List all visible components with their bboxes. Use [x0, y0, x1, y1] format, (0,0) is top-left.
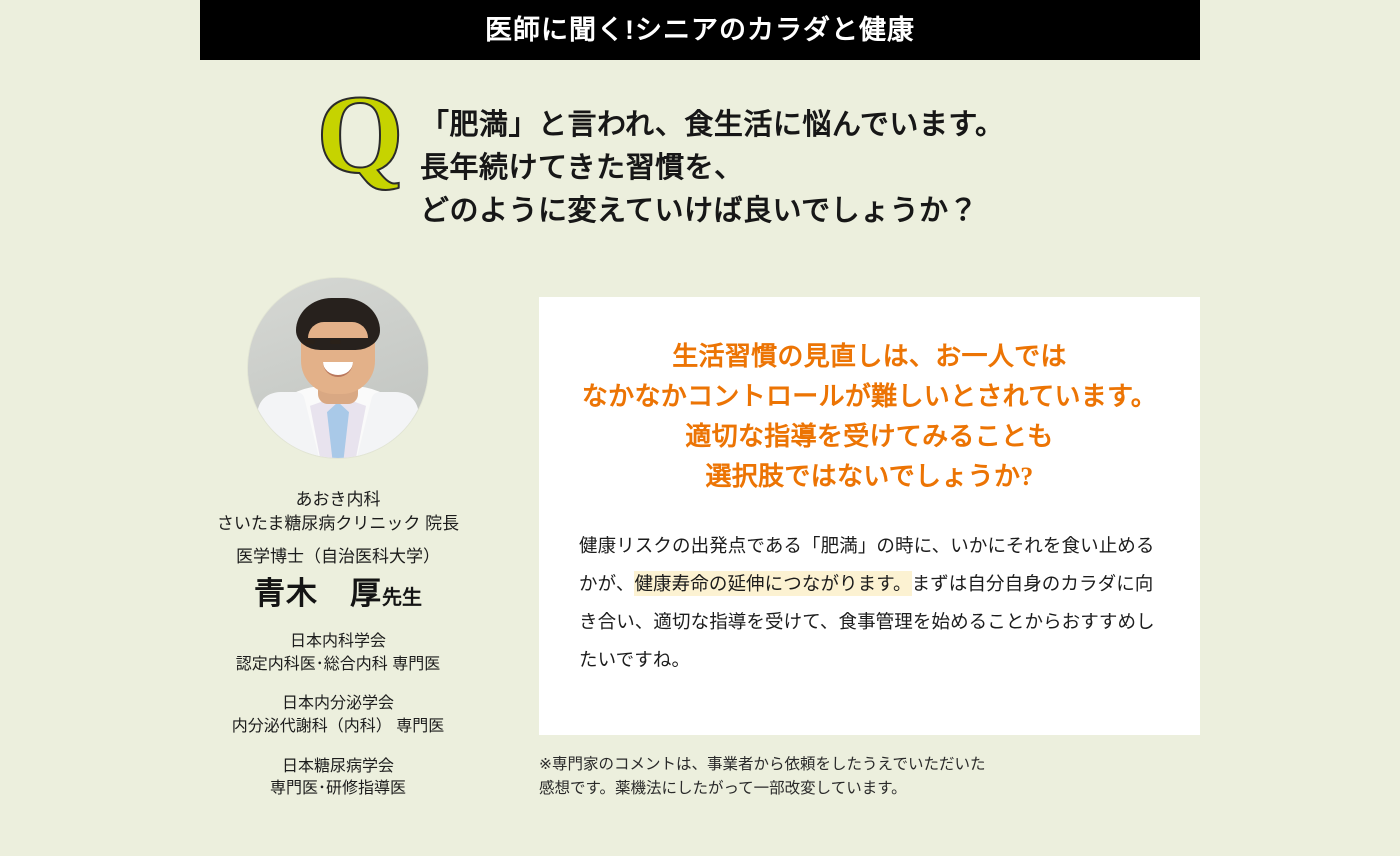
- answer-lead-line: 選択肢ではないでしょうか?: [579, 457, 1160, 497]
- qualification-society: 日本内科学会: [178, 631, 498, 654]
- answer-body: 健康リスクの出発点である「肥満」の時に、いかにそれを食い止めるかが、健康寿命の延…: [579, 527, 1160, 679]
- right-eye-shape: [330, 340, 341, 344]
- doctor-name-suffix: 先生: [382, 587, 422, 609]
- clinic-line: さいたま糖尿病クリニック 院長: [178, 512, 498, 536]
- page-title: 医師に聞く!シニアのカラダと健康: [485, 17, 915, 44]
- doctor-clinic: あおき内科 さいたま糖尿病クリニック 院長: [178, 488, 498, 536]
- doctor-portrait-photo: [248, 278, 428, 458]
- qualification-society: 日本糖尿病学会: [178, 756, 498, 779]
- doctor-profile: あおき内科 さいたま糖尿病クリニック 院長 医学博士（自治医科大学） 青木 厚先…: [178, 278, 498, 801]
- question-block: Q 「肥満」と言われ、食生活に悩んでいます。 長年続けてきた習慣を、 どのように…: [300, 92, 1200, 233]
- answer-lead-line: 適切な指導を受けてみることも: [579, 417, 1160, 457]
- disclaimer-line: 感想です。薬機法にしたがって一部改変しています。: [539, 777, 1199, 801]
- question-line: 「肥満」と言われ、食生活に悩んでいます。: [420, 104, 1005, 147]
- answer-lead-line: 生活習慣の見直しは、お一人では: [579, 337, 1160, 377]
- doctor-degree: 医学博士（自治医科大学）: [178, 545, 498, 569]
- question-text: 「肥満」と言われ、食生活に悩んでいます。 長年続けてきた習慣を、 どのように変え…: [420, 92, 1005, 233]
- answer-lead: 生活習慣の見直しは、お一人では なかなかコントロールが難しいとされています。 適…: [579, 337, 1160, 497]
- question-line: どのように変えていけば良いでしょうか？: [420, 190, 1005, 233]
- disclaimer-line: ※専門家のコメントは、事業者から依頼をしたうえでいただいた: [539, 753, 1199, 777]
- qualification-group: 日本糖尿病学会 専門医･研修指導医: [178, 756, 498, 801]
- disclaimer: ※専門家のコメントは、事業者から依頼をしたうえでいただいた 感想です。薬機法にし…: [539, 753, 1199, 802]
- qualification-society: 日本内分泌学会: [178, 693, 498, 716]
- header-bar: 医師に聞く!シニアのカラダと健康: [200, 0, 1200, 60]
- qualification-group: 日本内科学会 認定内科医･総合内科 専門医: [178, 631, 498, 676]
- answer-card: 生活習慣の見直しは、お一人では なかなかコントロールが難しいとされています。 適…: [539, 297, 1200, 735]
- qualification-detail: 専門医･研修指導医: [178, 778, 498, 801]
- answer-body-highlight: 健康寿命の延伸につながります。: [634, 571, 911, 596]
- doctor-name-text: 青木 厚: [254, 576, 382, 611]
- answer-lead-line: なかなかコントロールが難しいとされています。: [579, 377, 1160, 417]
- question-mark-letter: Q: [300, 84, 420, 187]
- qualification-detail: 内分泌代謝科（内科） 専門医: [178, 716, 498, 739]
- qualification-group: 日本内分泌学会 内分泌代謝科（内科） 専門医: [178, 693, 498, 738]
- doctor-name: 青木 厚先生: [178, 575, 498, 614]
- question-line: 長年続けてきた習慣を、: [420, 147, 1005, 190]
- left-eye-shape: [304, 340, 315, 344]
- qualification-detail: 認定内科医･総合内科 専門医: [178, 654, 498, 677]
- clinic-line: あおき内科: [178, 488, 498, 512]
